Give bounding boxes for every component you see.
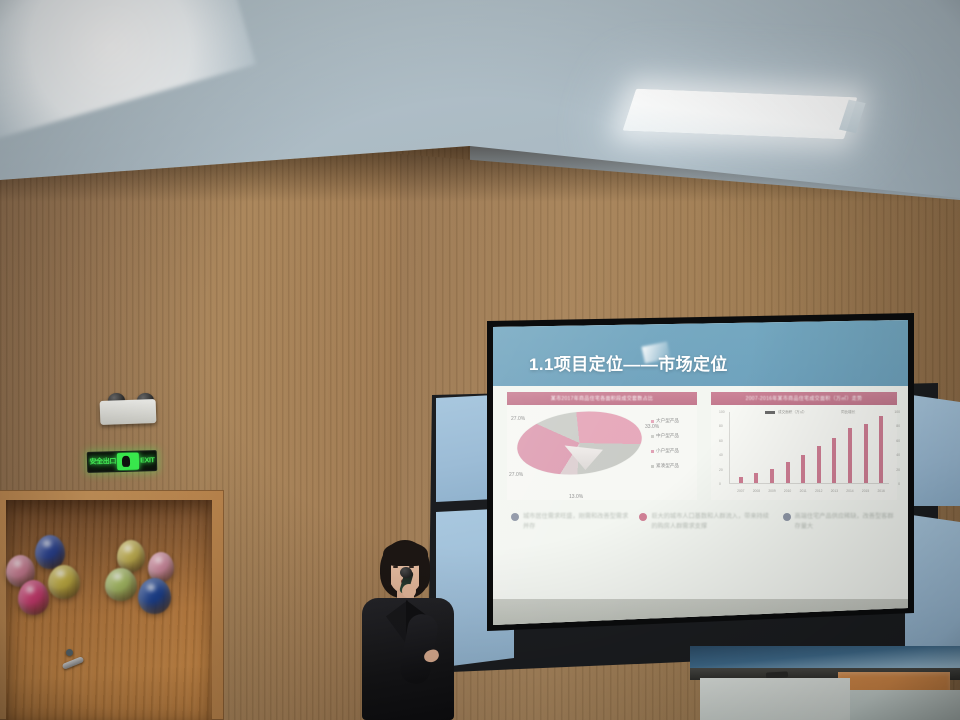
balloon-navy [138, 578, 171, 614]
bar-column-7 [842, 412, 858, 483]
bar-x-label-1: 2008 [749, 489, 765, 493]
slide-title-dot [716, 366, 719, 369]
bar-6 [832, 438, 836, 483]
bar-column-9 [873, 412, 889, 483]
bar-column-2 [764, 412, 780, 483]
bar-x-label-7: 2014 [842, 489, 858, 493]
bar-x-label-3: 2010 [780, 489, 796, 493]
bullet-dot-icon-2 [783, 513, 791, 521]
slide-title: 1.1项目定位——市场定位 [529, 350, 728, 375]
bar-y-tick-0: 100 [719, 410, 725, 414]
bar-x-label-9: 2016 [873, 489, 889, 493]
bar-1 [754, 473, 758, 483]
bar-x-label-2: 2009 [764, 489, 780, 493]
projection-screen: 1.1项目定位——市场定位 某市2017年商品住宅各面积段成交套数占比 33.0… [493, 320, 908, 625]
exit-sign-chinese-label: 安全出口 [89, 458, 116, 466]
bar-7 [848, 428, 852, 483]
podium-backdrop-strip [690, 646, 960, 668]
lecture-hall-photo: 安全出口 EXIT 1.1项目定位——市场定位 某市2017年商品住宅各面积段成… [0, 0, 960, 720]
bar-column-3 [780, 412, 796, 483]
presenter-hair-right [419, 552, 430, 588]
slide-bullet-0: 城市居住需求旺盛，刚需和改善型需求并存 [511, 512, 629, 531]
pie-legend-label-1: 中户型产品 [656, 433, 679, 439]
balloon-yellow [48, 565, 80, 599]
bar-3 [786, 462, 790, 483]
bar-9 [879, 416, 883, 483]
balloon-green [105, 568, 137, 601]
pie-legend-item-3: 紧凑型产品 [651, 463, 679, 469]
bar-8 [864, 424, 868, 483]
exit-sign-english-label: EXIT [140, 457, 155, 464]
bar-column-8 [858, 412, 874, 483]
podium-side-panel [700, 678, 850, 720]
bar-column-4 [795, 412, 811, 483]
bar-y2-tick-2: 60 [896, 439, 900, 443]
bar-chart-y-axis [729, 412, 730, 484]
bullet-text-2: 高端住宅产品供应稀缺，改善型客群存量大 [795, 512, 896, 531]
bar-chart-x-labels: 2007200820092010201120122013201420152016 [733, 489, 889, 493]
bar-chart-bars [733, 412, 889, 483]
pie-legend-item-0: 大户型产品 [651, 418, 679, 424]
bullet-dot-icon-0 [511, 513, 519, 521]
pie-chart-title: 某市2017年商品住宅各面积段成交套数占比 [551, 395, 653, 402]
bar-y-tick-3: 40 [719, 453, 723, 457]
bar-chart: 成交面积（万㎡） 同比增长 100806040200 100806040200 … [729, 412, 889, 484]
pie-label-2: 27.0% [509, 472, 523, 478]
bar-x-label-8: 2015 [858, 489, 874, 493]
bar-chart-panel-header: 2007-2016年某市商品住宅成交面积（万㎡）走势 [711, 392, 897, 405]
pie-legend-label-0: 大户型产品 [656, 418, 679, 424]
bar-column-1 [749, 412, 765, 483]
fluorescent-ceiling-light [622, 89, 857, 140]
ceiling-light-glow [0, 0, 256, 147]
bar-x-label-4: 2011 [795, 489, 811, 493]
slide-bullet-list: 城市居住需求旺盛，刚需和改善型需求并存 巨大的城市人口基数和人群流入，带来持续的… [511, 512, 896, 531]
balloon-magenta [18, 580, 49, 615]
bar-y2-tick-0: 100 [894, 410, 900, 414]
bar-column-5 [811, 412, 827, 483]
bar-y-tick-1: 80 [719, 424, 723, 428]
running-person-icon [117, 453, 139, 471]
bar-2 [770, 469, 774, 483]
bar-y2-tick-4: 20 [896, 468, 900, 472]
pie-label-1: 27.0% [511, 416, 525, 422]
presenter-eye-left [393, 566, 398, 568]
slide-bullet-1: 巨大的城市人口基数和人群流入，带来持续的购房人群需求支撑 [639, 512, 772, 531]
bar-y2-tick-3: 40 [896, 453, 900, 457]
bar-x-label-0: 2007 [733, 489, 749, 493]
pie-chart-disc [514, 406, 645, 481]
bar-column-0 [733, 412, 749, 483]
exit-sign: 安全出口 EXIT [87, 450, 158, 473]
bar-chart-title: 2007-2016年某市商品住宅成交面积（万㎡）走势 [746, 395, 863, 402]
bullet-text-0: 城市居住需求旺盛，刚需和改善型需求并存 [523, 512, 629, 531]
pie-chart [517, 412, 642, 490]
pie-chart-panel-header: 某市2017年商品住宅各面积段成交套数占比 [507, 392, 697, 405]
presenter-hair-left [381, 552, 391, 586]
bar-4 [801, 455, 805, 483]
bar-column-6 [827, 412, 843, 483]
bar-0 [739, 477, 743, 483]
balloon-blue [35, 535, 65, 569]
slide-bullet-2: 高端住宅产品供应稀缺，改善型客群存量大 [783, 512, 896, 531]
bar-5 [817, 446, 821, 483]
bar-x-label-5: 2012 [811, 489, 827, 493]
pie-legend-item-1: 中户型产品 [651, 433, 679, 439]
pie-label-3: 13.0% [569, 494, 583, 500]
emergency-light-fixture [100, 399, 157, 425]
pie-legend-label-3: 紧凑型产品 [656, 463, 679, 469]
presenter-speaking [352, 540, 462, 720]
pie-legend-label-2: 小户型产品 [656, 448, 679, 454]
bar-y2-tick-5: 0 [898, 482, 900, 486]
bar-y-tick-2: 60 [719, 439, 723, 443]
presenter-hand-holding-mic [402, 584, 416, 598]
presentation-slide: 1.1项目定位——市场定位 某市2017年商品住宅各面积段成交套数占比 33.0… [493, 320, 908, 625]
bar-y-tick-5: 0 [719, 482, 721, 486]
bar-y-tick-4: 20 [719, 468, 723, 472]
bar-y2-tick-1: 80 [896, 424, 900, 428]
pie-legend-item-2: 小户型产品 [651, 448, 679, 454]
door-lock-icon [66, 649, 73, 656]
pie-chart-legend: 大户型产品 中户型产品 小户型产品 紧凑型产品 [651, 418, 679, 478]
bar-x-label-6: 2013 [827, 489, 843, 493]
microphone-head-icon [400, 567, 412, 578]
bullet-dot-icon-1 [639, 513, 647, 521]
bullet-text-1: 巨大的城市人口基数和人群流入，带来持续的购房人群需求支撑 [651, 512, 772, 531]
bar-chart-x-axis [729, 483, 889, 484]
